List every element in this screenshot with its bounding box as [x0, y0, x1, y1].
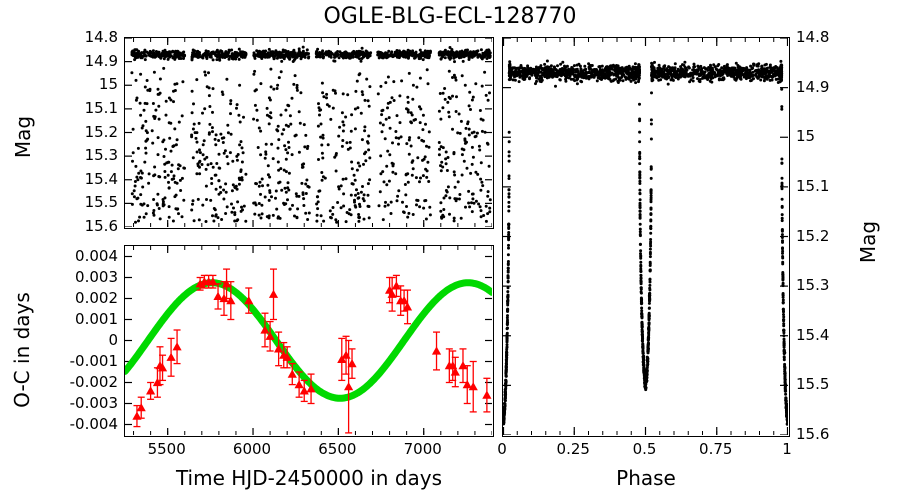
axis-tick-label: -0.001 — [40, 352, 118, 370]
phase-y-axis-title: Mag — [856, 212, 880, 272]
axis-tick-label: 15 — [58, 75, 118, 93]
axis-tick-label: -0.004 — [40, 415, 118, 433]
axis-tick-label: 15.2 — [796, 227, 856, 245]
lightcurve-phase-plot — [503, 38, 788, 435]
figure-root: OGLE-BLG-ECL-128770 14.814.91515.115.215… — [0, 0, 900, 500]
lightcurve-time-plot — [125, 38, 492, 227]
axis-tick-label: 15.2 — [58, 123, 118, 141]
axis-tick-label: -0.002 — [40, 373, 118, 391]
axis-tick-label: 14.9 — [58, 52, 118, 70]
axis-tick-label: 15.3 — [796, 276, 856, 294]
panel-oc-residuals — [124, 245, 494, 437]
axis-tick-label: 1 — [752, 440, 822, 458]
axis-tick-label: 0 — [40, 331, 118, 349]
lightcurve-time-y-axis-title: Mag — [11, 107, 35, 167]
axis-tick-label: 15.4 — [58, 170, 118, 188]
axis-tick-label: 15.5 — [796, 375, 856, 393]
axis-tick-label: 15.3 — [58, 146, 118, 164]
axis-tick-label: 15 — [796, 127, 856, 145]
axis-tick-label: 6500 — [302, 440, 372, 458]
axis-tick-label: 0.75 — [681, 440, 751, 458]
axis-tick-label: 15.5 — [58, 193, 118, 211]
axis-tick-label: 0.5 — [610, 440, 680, 458]
axis-tick-label: 0.003 — [40, 268, 118, 286]
axis-tick-label: 15.6 — [58, 217, 118, 235]
axis-tick-label: 0 — [467, 440, 537, 458]
axis-tick-label: 15.4 — [796, 326, 856, 344]
axis-tick-label: 0.004 — [40, 247, 118, 265]
axis-tick-label: -0.003 — [40, 394, 118, 412]
axis-tick-label: 7000 — [388, 440, 458, 458]
panel-lightcurve-time — [124, 37, 494, 229]
phase-x-axis-title: Phase — [502, 466, 790, 490]
axis-tick-label: 5500 — [132, 440, 202, 458]
axis-tick-label: 14.8 — [796, 28, 856, 46]
axis-tick-label: 0.001 — [40, 310, 118, 328]
axis-tick-label: 6000 — [217, 440, 287, 458]
figure-title: OGLE-BLG-ECL-128770 — [0, 4, 900, 29]
axis-tick-label: 15.1 — [796, 177, 856, 195]
panel-lightcurve-phase — [502, 37, 790, 437]
axis-tick-label: 0.25 — [538, 440, 608, 458]
axis-tick-label: 0.002 — [40, 289, 118, 307]
axis-tick-label: 14.8 — [58, 28, 118, 46]
axis-tick-label: 14.9 — [796, 78, 856, 96]
oc-y-axis-title: O-C in days — [10, 290, 34, 410]
axis-tick-label: 15.1 — [58, 99, 118, 117]
oc-residuals-plot — [125, 246, 492, 435]
oc-x-axis-title: Time HJD-2450000 in days — [124, 466, 494, 490]
